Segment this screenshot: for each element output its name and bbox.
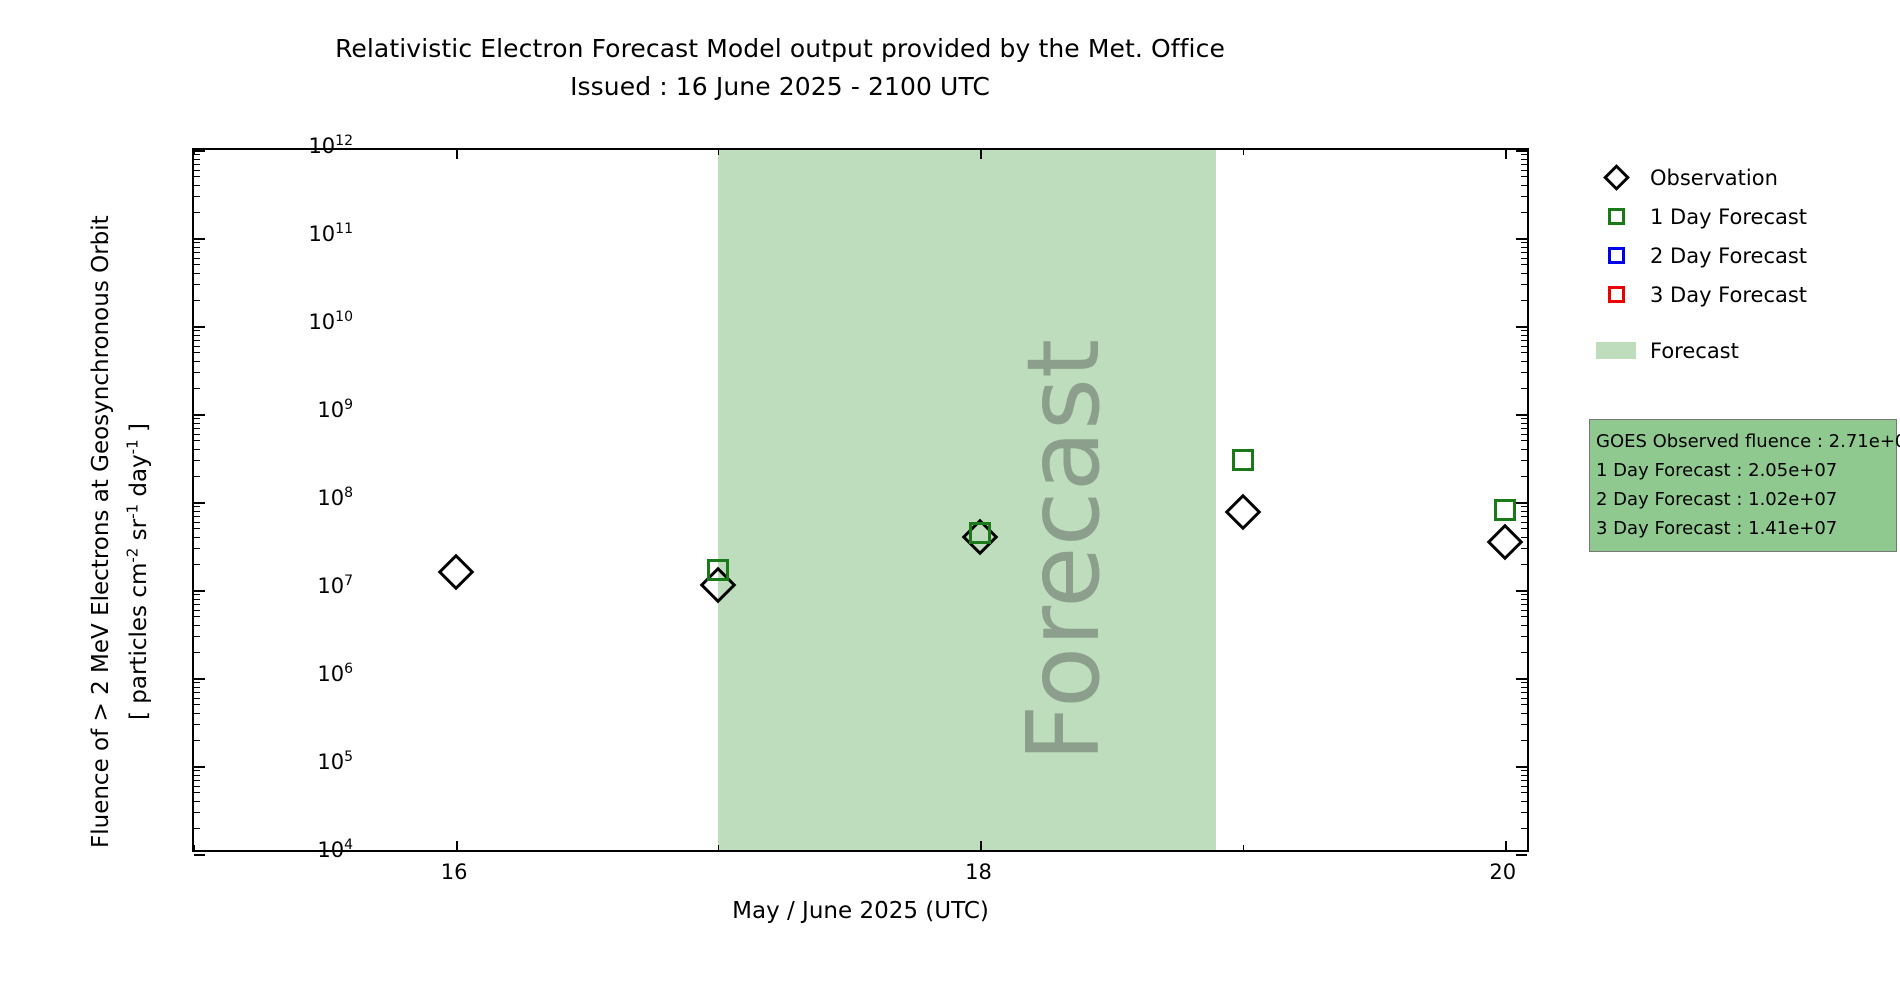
y-tick-minor — [1521, 516, 1527, 517]
y-tick-major — [1516, 326, 1527, 328]
info-line-2: 1 Day Forecast : 2.05e+07 — [1596, 456, 1890, 485]
forecast-watermark-text: Forecast — [1005, 339, 1122, 762]
y-tick-label: 1011 — [308, 222, 353, 246]
legend-item-label: 2 Day Forecast — [1640, 244, 1807, 268]
y-tick-minor — [194, 418, 200, 419]
y-axis-units-sup-1: -2 — [123, 548, 141, 563]
y-tick-major — [194, 590, 205, 592]
y-axis-units-pre: [ particles cm — [126, 563, 152, 720]
legend-key-icon — [1592, 247, 1640, 264]
y-tick-minor — [1521, 522, 1527, 523]
y-tick-minor — [194, 616, 200, 617]
y-tick-minor — [194, 159, 200, 160]
y-tick-minor — [194, 423, 200, 424]
y-tick-minor — [194, 506, 200, 507]
y-tick-minor — [1521, 724, 1527, 725]
legend-key-icon — [1592, 168, 1640, 187]
y-tick-minor — [194, 346, 200, 347]
y-tick-minor — [194, 537, 200, 538]
info-line-3: 2 Day Forecast : 1.02e+07 — [1596, 485, 1890, 514]
y-tick-minor — [1521, 625, 1527, 626]
y-tick-minor — [194, 687, 200, 688]
y-tick-minor — [1521, 687, 1527, 688]
y-tick-minor — [194, 516, 200, 517]
y-tick-minor — [194, 599, 200, 600]
y-tick-minor — [1521, 548, 1527, 549]
y-tick-minor — [1521, 537, 1527, 538]
y-tick-label: 1010 — [308, 310, 353, 334]
legend-item-label: 3 Day Forecast — [1640, 283, 1807, 307]
square-marker-icon — [1608, 208, 1625, 225]
y-tick-minor — [1521, 652, 1527, 653]
x-tick-label: 18 — [948, 860, 1008, 884]
x-tick-minor — [194, 845, 195, 850]
y-tick-minor — [1521, 164, 1527, 165]
y-tick-minor — [194, 704, 200, 705]
y-tick-minor — [194, 284, 200, 285]
y-axis-units-mid-2: day — [126, 454, 152, 504]
y-tick-minor — [1521, 273, 1527, 274]
y-tick-minor — [194, 522, 200, 523]
chart-page: Relativistic Electron Forecast Model out… — [0, 0, 1900, 1000]
y-tick-minor — [194, 528, 200, 529]
y-tick-major — [194, 502, 205, 504]
y-tick-label: 105 — [317, 750, 353, 774]
info-line-4: 3 Day Forecast : 1.41e+07 — [1596, 514, 1890, 543]
y-tick-minor — [1521, 528, 1527, 529]
y-tick-minor — [194, 801, 200, 802]
y-tick-major — [194, 414, 205, 416]
y-tick-minor — [1521, 428, 1527, 429]
y-tick-minor — [1521, 440, 1527, 441]
y-tick-minor — [194, 604, 200, 605]
y-tick-major — [194, 150, 205, 152]
y-tick-minor — [194, 682, 200, 683]
legend-key-icon — [1592, 286, 1640, 303]
y-tick-minor — [194, 164, 200, 165]
chart-legend: Observation1 Day Forecast2 Day Forecast3… — [1592, 158, 1882, 370]
y-tick-minor — [1521, 300, 1527, 301]
y-tick-major — [194, 326, 205, 328]
y-tick-minor — [194, 170, 200, 171]
y-tick-minor — [1521, 599, 1527, 600]
y-tick-minor — [194, 775, 200, 776]
y-tick-minor — [1521, 258, 1527, 259]
y-tick-minor — [194, 428, 200, 429]
y-tick-minor — [194, 724, 200, 725]
y-tick-minor — [194, 440, 200, 441]
y-tick-minor — [194, 610, 200, 611]
chart-title-line-2: Issued : 16 June 2025 - 2100 UTC — [0, 68, 1560, 106]
y-tick-minor — [1521, 511, 1527, 512]
y-tick-minor — [1521, 352, 1527, 353]
legend-item-label: Forecast — [1640, 339, 1739, 363]
diamond-marker-icon — [1603, 164, 1630, 191]
y-tick-minor — [1521, 284, 1527, 285]
y-tick-minor — [194, 652, 200, 653]
square-marker-icon — [1608, 286, 1625, 303]
y-tick-minor — [1521, 154, 1527, 155]
x-tick-minor — [194, 150, 195, 155]
y-tick-major — [194, 854, 205, 856]
y-tick-minor — [194, 698, 200, 699]
y-tick-minor — [1521, 449, 1527, 450]
y-tick-minor — [1521, 828, 1527, 829]
y-tick-minor — [194, 352, 200, 353]
y-tick-minor — [1521, 682, 1527, 683]
y-tick-minor — [194, 770, 200, 771]
y-tick-label: 108 — [317, 486, 353, 510]
y-tick-minor — [1521, 476, 1527, 477]
y-tick-minor — [1521, 792, 1527, 793]
y-tick-minor — [194, 476, 200, 477]
y-tick-minor — [1521, 812, 1527, 813]
y-tick-label: 104 — [317, 838, 353, 862]
y-tick-major — [1516, 238, 1527, 240]
y-tick-minor — [1521, 372, 1527, 373]
y-tick-minor — [194, 176, 200, 177]
legend-key-icon — [1592, 208, 1640, 225]
y-tick-minor — [1521, 264, 1527, 265]
y-tick-major — [1516, 766, 1527, 768]
y-axis-units-sup-2: -1 — [123, 504, 141, 519]
x-tick-minor — [718, 150, 719, 155]
y-tick-minor — [194, 196, 200, 197]
info-line-1: GOES Observed fluence : 2.71e+07 — [1596, 427, 1890, 456]
y-tick-major — [194, 766, 205, 768]
y-tick-label: 1012 — [308, 134, 353, 158]
y-tick-minor — [194, 636, 200, 637]
legend-item-forecast[interactable]: Forecast — [1592, 331, 1882, 370]
y-tick-minor — [1521, 786, 1527, 787]
y-tick-minor — [1521, 801, 1527, 802]
y-tick-major — [1516, 502, 1527, 504]
y-tick-minor — [1521, 692, 1527, 693]
y-tick-minor — [1521, 616, 1527, 617]
y-tick-minor — [194, 564, 200, 565]
y-tick-minor — [1521, 340, 1527, 341]
band-patch-icon — [1596, 342, 1636, 359]
y-tick-minor — [1521, 564, 1527, 565]
y-tick-major — [1516, 414, 1527, 416]
y-tick-minor — [194, 511, 200, 512]
legend-item-observation[interactable]: Observation — [1592, 158, 1882, 197]
y-tick-minor — [1521, 252, 1527, 253]
y-axis-units-mid: sr — [126, 519, 152, 548]
x-tick-minor — [1243, 150, 1244, 155]
y-tick-minor — [1521, 361, 1527, 362]
data-point-1-day-forecast — [969, 522, 991, 544]
y-tick-minor — [1521, 636, 1527, 637]
data-point-observation — [1486, 524, 1523, 561]
y-tick-minor — [194, 388, 200, 389]
y-tick-minor — [194, 264, 200, 265]
y-tick-minor — [194, 792, 200, 793]
y-tick-minor — [1521, 610, 1527, 611]
y-tick-minor — [1521, 460, 1527, 461]
y-tick-major — [194, 678, 205, 680]
data-point-1-day-forecast — [707, 559, 729, 581]
y-tick-minor — [194, 340, 200, 341]
legend-key-icon — [1592, 342, 1640, 359]
legend-item-1-day-forecast[interactable]: 1 Day Forecast — [1592, 197, 1882, 236]
y-axis-title-line-1: Fluence of > 2 MeV Electrons at Geosynch… — [88, 215, 114, 848]
y-tick-minor — [1521, 176, 1527, 177]
x-tick-label: 20 — [1473, 860, 1533, 884]
y-tick-minor — [194, 434, 200, 435]
y-tick-minor — [194, 258, 200, 259]
y-tick-minor — [194, 335, 200, 336]
forecast-band: Forecast — [718, 150, 1216, 850]
y-tick-minor — [194, 372, 200, 373]
y-tick-minor — [1521, 335, 1527, 336]
plot-area: Forecast — [192, 148, 1529, 852]
y-tick-minor — [1521, 330, 1527, 331]
y-tick-minor — [194, 594, 200, 595]
y-tick-minor — [1521, 212, 1527, 213]
y-tick-minor — [194, 780, 200, 781]
data-point-1-day-forecast — [1232, 449, 1254, 471]
x-axis-title: May / June 2025 (UTC) — [192, 898, 1529, 924]
y-tick-major — [1516, 678, 1527, 680]
chart-title-line-1: Relativistic Electron Forecast Model out… — [0, 30, 1560, 68]
y-tick-label: 109 — [317, 398, 353, 422]
y-tick-minor — [1521, 770, 1527, 771]
y-tick-minor — [194, 361, 200, 362]
x-tick-major — [1505, 150, 1507, 159]
y-tick-minor — [1521, 713, 1527, 714]
y-tick-minor — [194, 300, 200, 301]
y-tick-major — [1516, 854, 1527, 856]
y-tick-minor — [194, 692, 200, 693]
legend-item-3-day-forecast[interactable]: 3 Day Forecast — [1592, 275, 1882, 314]
y-tick-minor — [1521, 185, 1527, 186]
y-tick-minor — [194, 548, 200, 549]
y-tick-minor — [1521, 196, 1527, 197]
square-marker-icon — [1608, 247, 1625, 264]
y-tick-minor — [1521, 775, 1527, 776]
y-tick-minor — [194, 828, 200, 829]
y-axis-units-sup-3: -1 — [123, 439, 141, 454]
y-tick-minor — [1521, 740, 1527, 741]
legend-item-label: Observation — [1640, 166, 1778, 190]
y-tick-minor — [1521, 604, 1527, 605]
x-tick-major — [980, 150, 982, 159]
y-axis-units-post: ] — [126, 423, 152, 439]
x-tick-label: 16 — [424, 860, 484, 884]
y-tick-minor — [1521, 159, 1527, 160]
y-tick-minor — [194, 625, 200, 626]
y-tick-minor — [194, 740, 200, 741]
y-tick-minor — [194, 247, 200, 248]
y-tick-minor — [1521, 242, 1527, 243]
y-tick-minor — [1521, 170, 1527, 171]
y-tick-minor — [1521, 423, 1527, 424]
y-tick-minor — [194, 273, 200, 274]
y-tick-minor — [1521, 346, 1527, 347]
y-tick-minor — [1521, 388, 1527, 389]
y-tick-minor — [194, 330, 200, 331]
y-tick-minor — [194, 185, 200, 186]
y-tick-minor — [194, 449, 200, 450]
y-tick-minor — [1521, 418, 1527, 419]
y-tick-label: 106 — [317, 662, 353, 686]
x-tick-major — [1505, 841, 1507, 850]
legend-item-label: 1 Day Forecast — [1640, 205, 1807, 229]
y-tick-minor — [194, 212, 200, 213]
y-tick-minor — [194, 713, 200, 714]
y-tick-minor — [1521, 780, 1527, 781]
y-tick-minor — [194, 812, 200, 813]
y-tick-minor — [1521, 434, 1527, 435]
data-point-observation — [1224, 494, 1261, 531]
data-point-1-day-forecast — [1494, 499, 1516, 521]
y-tick-minor — [1521, 506, 1527, 507]
x-tick-minor — [718, 845, 719, 850]
y-tick-major — [194, 238, 205, 240]
y-tick-minor — [194, 460, 200, 461]
chart-title-block: Relativistic Electron Forecast Model out… — [0, 30, 1560, 106]
y-tick-minor — [194, 252, 200, 253]
y-tick-minor — [194, 242, 200, 243]
y-tick-minor — [194, 786, 200, 787]
plot-inner-canvas: Forecast — [194, 150, 1527, 850]
y-tick-minor — [1521, 698, 1527, 699]
y-tick-minor — [1521, 704, 1527, 705]
legend-item-2-day-forecast[interactable]: 2 Day Forecast — [1592, 236, 1882, 275]
y-tick-minor — [1521, 594, 1527, 595]
y-axis-title-line-2: [ particles cm-2 sr-1 day-1 ] — [126, 423, 152, 720]
y-tick-major — [1516, 590, 1527, 592]
data-point-observation — [438, 554, 475, 591]
fluence-info-box: GOES Observed fluence : 2.71e+071 Day Fo… — [1589, 419, 1897, 552]
x-tick-minor — [1243, 845, 1244, 850]
x-tick-major — [456, 841, 458, 850]
y-tick-major — [1516, 150, 1527, 152]
x-tick-major — [980, 841, 982, 850]
y-tick-minor — [1521, 247, 1527, 248]
y-tick-label: 107 — [317, 574, 353, 598]
x-tick-major — [456, 150, 458, 159]
